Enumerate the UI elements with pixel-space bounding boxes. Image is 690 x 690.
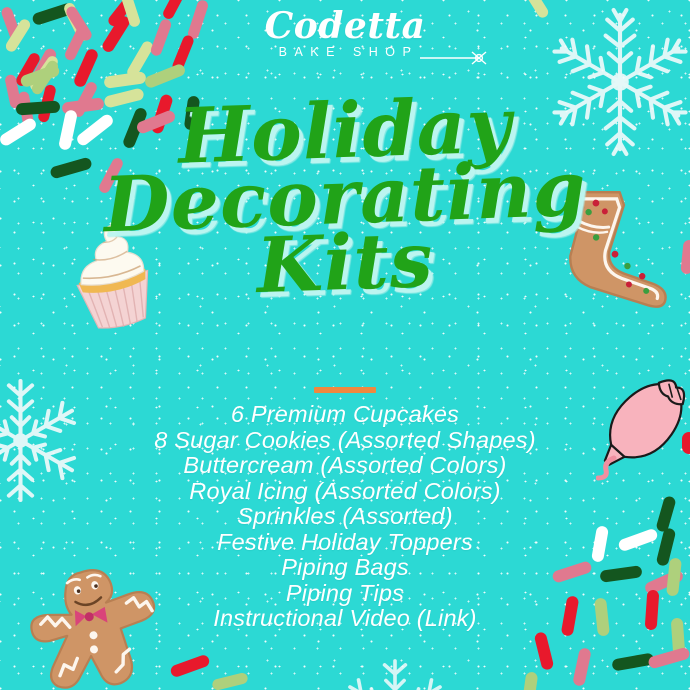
sprinkle [534, 631, 555, 671]
kit-contents-list: 6 Premium Cupcakes 8 Sugar Cookies (Asso… [0, 402, 690, 632]
sparkle-icon [420, 51, 494, 65]
brand-tagline: BAKE SHOP [0, 45, 690, 59]
title-divider [314, 387, 376, 393]
sprinkle [522, 671, 539, 690]
list-item: Sprinkles (Assorted) [0, 504, 690, 530]
sprinkle [572, 647, 592, 687]
list-item: Instructional Video (Link) [0, 606, 690, 632]
brand-name: Codetta [0, 8, 690, 44]
sprinkle [143, 63, 186, 90]
sprinkle [647, 646, 690, 669]
sprinkle [103, 71, 146, 89]
snowflake-bottom-center [330, 648, 460, 690]
poster-title: Holiday Decorating Kits [0, 96, 690, 298]
brand-logo: Codetta BAKE SHOP [0, 8, 690, 59]
list-item: 6 Premium Cupcakes [0, 402, 690, 428]
poster-canvas: Codetta BAKE SHOP Holiday Decorating Kit… [0, 0, 690, 690]
sprinkle [211, 672, 249, 690]
list-item: Festive Holiday Toppers [0, 530, 690, 556]
list-item: 8 Sugar Cookies (Assorted Shapes) [0, 428, 690, 454]
list-item: Royal Icing (Assorted Colors) [0, 479, 690, 505]
list-item: Piping Tips [0, 581, 690, 607]
sprinkle [169, 654, 211, 679]
snowflake-icon [330, 648, 460, 690]
list-item: Buttercream (Assorted Colors) [0, 453, 690, 479]
list-item: Piping Bags [0, 555, 690, 581]
